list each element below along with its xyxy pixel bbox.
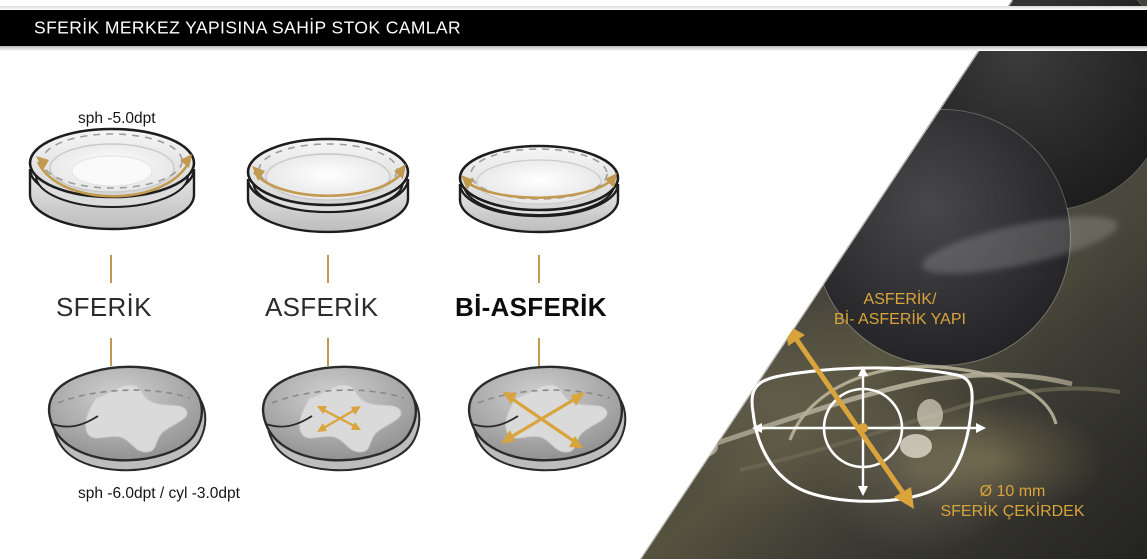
category-label-biaspheric: Bİ-ASFERİK	[455, 292, 607, 323]
lens-blob-aspheric	[263, 367, 419, 470]
poster-canvas: ASFERİK/ Bİ- ASFERİK YAPI Ø 10 mm SFERİK…	[0, 0, 1147, 559]
category-label-aspheric: ASFERİK	[265, 292, 378, 323]
annotation-aspheric-structure: ASFERİK/ Bİ- ASFERİK YAPI	[800, 290, 1000, 330]
lens-blob-spherical	[49, 367, 205, 470]
connector-tick-spherical-top	[110, 255, 112, 283]
annotation-core-label: SFERİK ÇEKİRDEK	[905, 502, 1120, 522]
connector-tick-aspheric-bottom	[327, 338, 329, 366]
category-label-spherical: SFERİK	[56, 292, 152, 323]
annotation-spherical-core: Ø 10 mm SFERİK ÇEKİRDEK	[905, 482, 1120, 522]
connector-tick-spherical-bottom	[110, 338, 112, 366]
connector-tick-biaspheric-top	[538, 255, 540, 283]
lens-comparison-diagram: sph -5.0dpt sph -6.0dpt / cyl -3.0dpt	[0, 0, 780, 559]
page-title: SFERİK MERKEZ YAPISINA SAHİP STOK CAMLAR	[34, 18, 461, 39]
annotation-aspheric-line2: Bİ- ASFERİK YAPI	[800, 310, 1000, 330]
connector-tick-biaspheric-bottom	[538, 338, 540, 366]
lens-blob-biaspheric	[469, 367, 625, 470]
header-bottom-shadow	[0, 46, 1147, 51]
annotation-aspheric-line1: ASFERİK/	[800, 290, 1000, 310]
core-pointer-arrow	[790, 330, 910, 503]
annotation-core-diameter: Ø 10 mm	[905, 482, 1120, 502]
lens-disc-spherical	[30, 129, 194, 229]
header-bar: SFERİK MERKEZ YAPISINA SAHİP STOK CAMLAR	[0, 10, 1147, 46]
connector-tick-aspheric-top	[327, 255, 329, 283]
lens-shapes-layer	[0, 0, 780, 559]
